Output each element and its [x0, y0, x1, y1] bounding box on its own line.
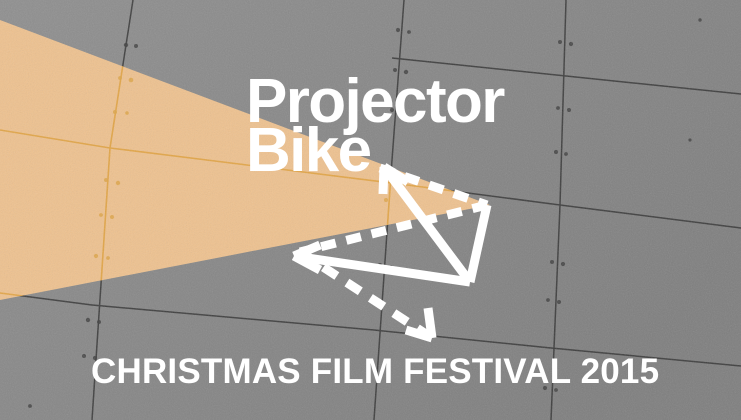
projector-bike-poster: Projector Bike CHRISTMAS FILM FESTIVAL 2… [0, 0, 741, 420]
poster-artwork [0, 0, 741, 420]
grain-overlay-dark [0, 0, 741, 420]
